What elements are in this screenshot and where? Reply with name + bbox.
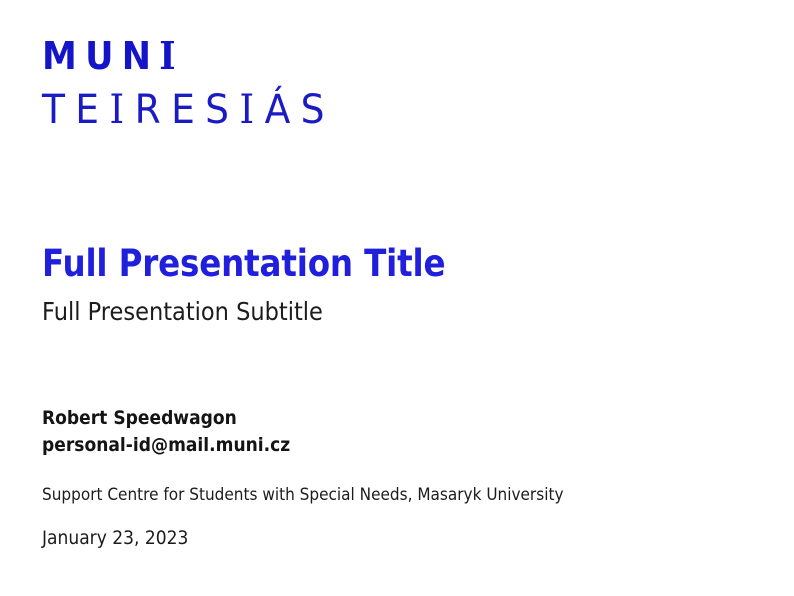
author-email: personal-id@mail.muni.cz <box>42 432 690 459</box>
presentation-date: January 23, 2023 <box>42 526 690 550</box>
presentation-title-slide: MUNI TEIRESIÁS Full Presentation Title F… <box>0 0 794 596</box>
logo-teiresias-wordmark: TEIRESIÁS <box>42 88 437 132</box>
logo-muni-wordmark: MUNI <box>42 36 428 76</box>
muni-teiresias-logo: MUNI TEIRESIÁS <box>42 36 462 132</box>
logo-teiresias-text: TEIRESIÁS <box>42 87 335 133</box>
logo-muni-text: MUNI <box>42 34 176 78</box>
presenter-meta-block: Robert Speedwagon personal-id@mail.muni.… <box>42 405 762 550</box>
title-block: Full Presentation Title Full Presentatio… <box>42 243 742 327</box>
author-name: Robert Speedwagon <box>42 405 690 432</box>
page-subtitle: Full Presentation Subtitle <box>42 297 672 327</box>
affiliation-line: Support Centre for Students with Special… <box>42 484 690 506</box>
page-title: Full Presentation Title <box>42 243 658 285</box>
